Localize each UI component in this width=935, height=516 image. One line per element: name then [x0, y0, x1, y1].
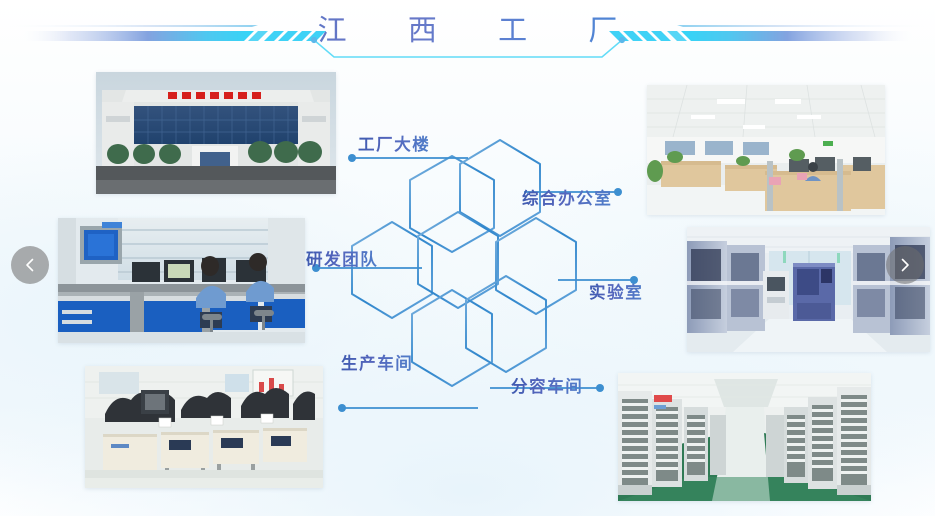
photo-office[interactable] — [647, 85, 885, 215]
slide-header: 江 西 工 厂 — [0, 0, 935, 72]
right-decorative-banner — [609, 0, 935, 72]
photo-production[interactable] — [85, 366, 323, 488]
chevron-right-icon — [896, 256, 914, 274]
carousel-prev-button[interactable] — [11, 246, 49, 284]
diagram-label-office: 综合办公室 — [522, 185, 613, 209]
slide-stage: 江 西 工 厂 — [0, 0, 935, 516]
photo-laboratory[interactable] — [687, 227, 930, 352]
left-decorative-banner — [0, 0, 326, 72]
title-underline-bracket — [308, 36, 628, 62]
photo-grading[interactable] — [618, 373, 871, 501]
diagram-label-factory-building: 工厂大楼 — [358, 131, 430, 155]
carousel-next-button[interactable] — [886, 246, 924, 284]
diagram-label-laboratory: 实验室 — [589, 279, 643, 303]
diagram-label-grading: 分容车间 — [511, 373, 583, 397]
diagram-label-rd-team: 研发团队 — [306, 246, 378, 270]
chevron-left-icon — [21, 256, 39, 274]
photo-rd-team[interactable] — [58, 218, 305, 343]
diagram-label-production: 生产车间 — [341, 350, 413, 374]
